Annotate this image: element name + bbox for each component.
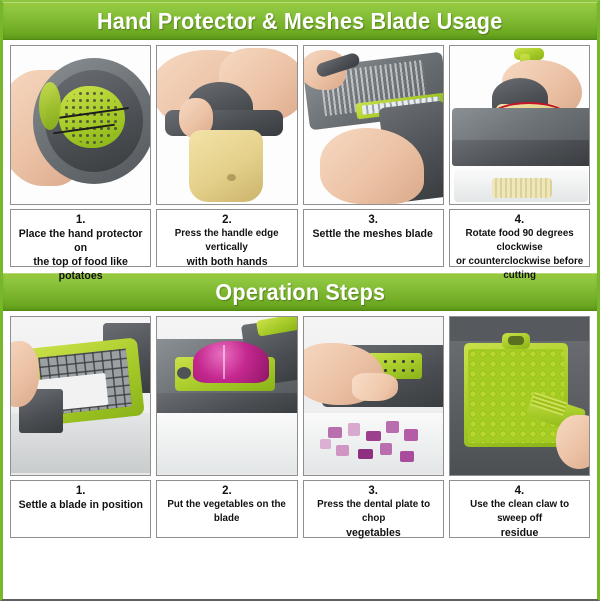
caption-line-1: Use the clean claw to sweep off xyxy=(455,498,583,526)
caption-number: 1. xyxy=(76,484,86,498)
photo-placing-dicing-blade xyxy=(10,316,151,476)
caption-1-1: 1. Place the hand protector on the top o… xyxy=(10,209,151,267)
photo-pressing-handle-onto-potato xyxy=(156,45,297,205)
caption-2-4: 4. Use the clean claw to sweep off resid… xyxy=(449,480,590,538)
caption-line-1: Place the hand protector on xyxy=(17,227,145,255)
caption-line-1: Put the vegetables on the blade xyxy=(163,498,291,526)
caption-number: 4. xyxy=(515,213,525,227)
section-1-body: 90° 1. Place the hand protector on the t… xyxy=(3,40,597,267)
caption-line-2: the top of food like potatoes xyxy=(17,255,145,283)
caption-2-1: 1. Settle a blade in position xyxy=(10,480,151,538)
caption-number: 2. xyxy=(222,484,232,498)
caption-line-1: Press the dental plate to chop xyxy=(309,498,437,526)
photo-pressing-dental-plate xyxy=(303,316,444,476)
caption-line-2: with both hands xyxy=(186,255,267,269)
section-2-caption-row: 1. Settle a blade in position 2. Put the… xyxy=(10,480,590,538)
photo-onion-on-blade xyxy=(156,316,297,476)
caption-line-1: Settle a blade in position xyxy=(18,498,142,512)
caption-1-4: 4. Rotate food 90 degrees clockwise or c… xyxy=(449,209,590,267)
photo-settling-meshes-blade xyxy=(303,45,444,205)
photo-hand-protector-on-green-mesh xyxy=(10,45,151,205)
caption-number: 3. xyxy=(368,213,378,227)
caption-1-2: 2. Press the handle edge vertically with… xyxy=(156,209,297,267)
caption-1-3: 3. Settle the meshes blade xyxy=(303,209,444,267)
caption-number: 1. xyxy=(76,213,86,227)
infographic-page: Hand Protector & Meshes Blade Usage xyxy=(0,0,600,601)
caption-number: 4. xyxy=(515,484,525,498)
caption-line-2: residue xyxy=(501,526,539,540)
caption-number: 3. xyxy=(368,484,378,498)
caption-line-1: Settle the meshes blade xyxy=(313,227,433,241)
section-1-caption-row: 1. Place the hand protector on the top o… xyxy=(10,209,590,267)
section-2-photo-row xyxy=(10,316,590,476)
caption-line-1: Press the handle edge vertically xyxy=(163,227,291,255)
section-1-title: Hand Protector & Meshes Blade Usage xyxy=(97,8,502,35)
section-1-banner: Hand Protector & Meshes Blade Usage xyxy=(3,2,597,40)
caption-line-1: Rotate food 90 degrees clockwise xyxy=(455,227,583,255)
section-2-title: Operation Steps xyxy=(215,279,385,306)
section-2-body: 1. Settle a blade in position 2. Put the… xyxy=(3,311,597,538)
caption-2-2: 2. Put the vegetables on the blade xyxy=(156,480,297,538)
photo-rotating-food-90-degrees: 90° xyxy=(449,45,590,205)
section-1-photo-row: 90° xyxy=(10,45,590,205)
photo-cleaning-claw-sweeping-plate xyxy=(449,316,590,476)
caption-line-2: or counterclockwise before cutting xyxy=(455,255,583,283)
caption-line-2: vegetables xyxy=(346,526,401,540)
caption-2-3: 3. Press the dental plate to chop vegeta… xyxy=(303,480,444,538)
caption-number: 2. xyxy=(222,213,232,227)
